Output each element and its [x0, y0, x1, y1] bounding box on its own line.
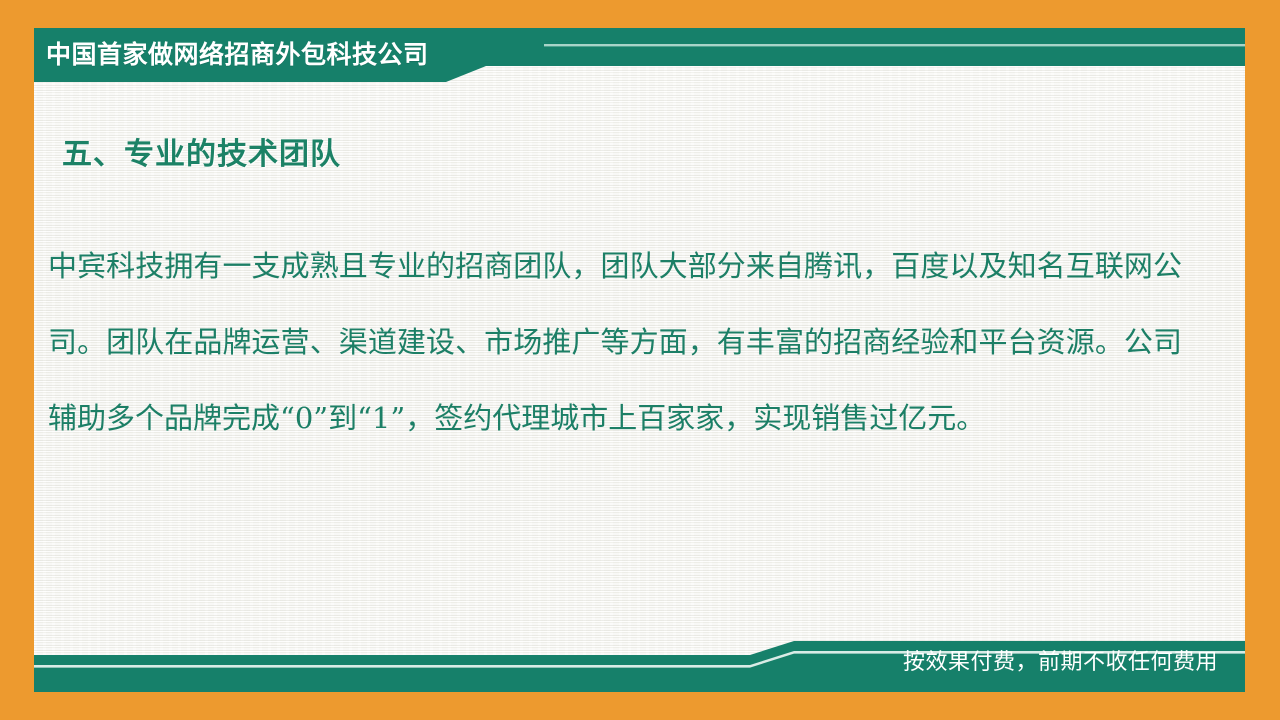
footer-tagline: 按效果付费，前期不收任何费用: [903, 648, 1218, 678]
presentation-slide: 中国首家做网络招商外包科技公司 五、专业的技术团队 中宾科技拥有一支成熟且专业的…: [0, 0, 1280, 720]
body-copy: 中宾科技拥有一支成熟且专业的招商团队，团队大部分来自腾讯，百度以及知名互联网公司…: [48, 228, 1182, 456]
body-paragraph: 中宾科技拥有一支成熟且专业的招商团队，团队大部分来自腾讯，百度以及知名互联网公司…: [48, 228, 1182, 456]
header-title: 中国首家做网络招商外包科技公司: [46, 36, 429, 74]
header-hairline: [544, 44, 1245, 46]
section-heading: 五、专业的技术团队: [62, 134, 341, 176]
